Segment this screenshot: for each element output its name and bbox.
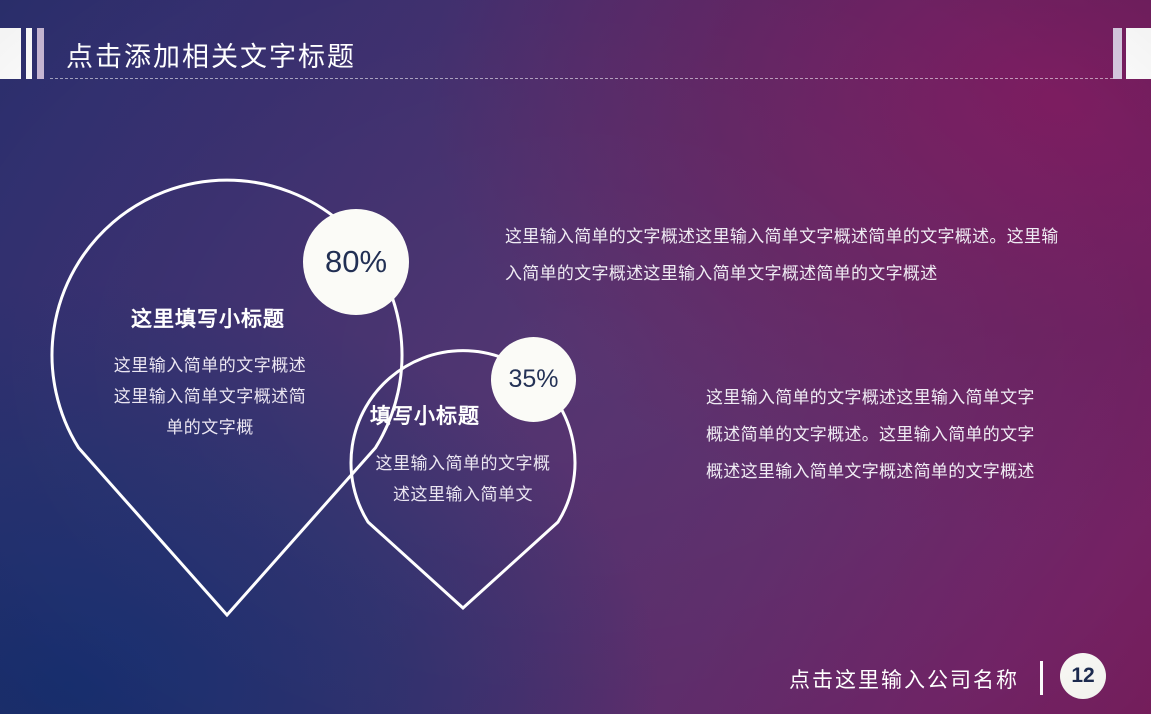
header-divider: [50, 78, 1113, 79]
page-title: 点击添加相关文字标题: [66, 35, 356, 74]
footer-divider: [1040, 661, 1043, 695]
header-left-block: [0, 28, 21, 79]
header-right-block: [1126, 28, 1151, 79]
page-number-badge: 12: [1060, 653, 1106, 699]
pin-title-2: 填写小标题: [370, 400, 480, 430]
header-right-bar-lavender: [1113, 28, 1122, 79]
pin-body-1: 这里输入简单的文字概述这里输入简单文字概述简单的文字概: [110, 350, 310, 443]
header-left-bar-white: [26, 28, 32, 79]
badge-percent-80[interactable]: 80%: [303, 209, 409, 315]
footer-company-name[interactable]: 点击这里输入公司名称: [789, 664, 1019, 694]
header-left-bar-lavender: [37, 28, 44, 79]
badge-percent-35[interactable]: 35%: [491, 337, 576, 422]
description-paragraph-1: 这里输入简单的文字概述这里输入简单文字概述简单的文字概述。这里输入简单的文字概述…: [505, 218, 1075, 292]
pin-title-1: 这里填写小标题: [131, 303, 285, 333]
pin-body-2: 这里输入简单的文字概述这里输入简单文: [368, 448, 558, 510]
slide-canvas: 点击添加相关文字标题 80% 35% 这里填写小标题 这里输入简单的文字概述这里…: [0, 0, 1151, 714]
description-paragraph-2: 这里输入简单的文字概述这里输入简单文字概述简单的文字概述。这里输入简单的文字概述…: [706, 379, 1036, 490]
